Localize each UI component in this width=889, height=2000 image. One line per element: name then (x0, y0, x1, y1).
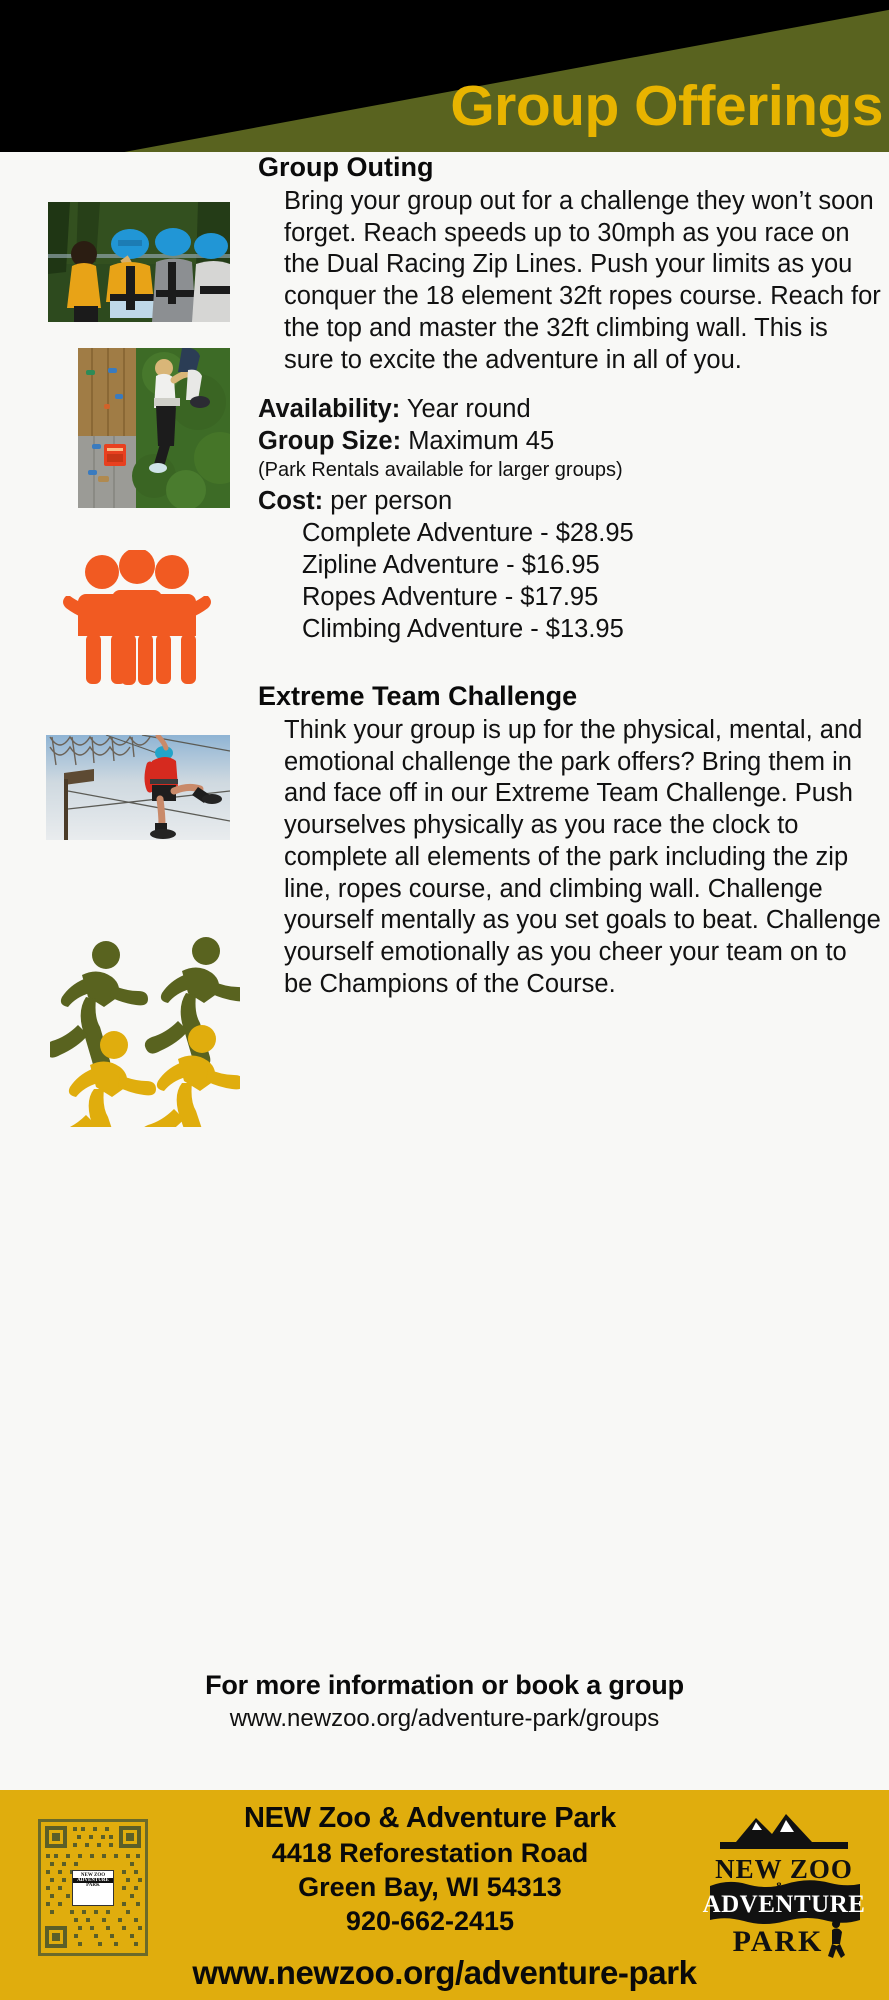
price-item: Climbing Adventure - $13.95 (258, 613, 881, 645)
cta-block: For more information or book a group www… (0, 1670, 889, 1733)
section-heading-group-outing: Group Outing (258, 152, 881, 184)
group-people-icon (58, 550, 216, 685)
page-header: Group Offerings (0, 0, 889, 152)
ropes-course-photo (46, 735, 230, 840)
detail-cost-label: Cost: (258, 487, 323, 515)
qr-logo-line-3: PARK (73, 1883, 113, 1888)
section-body-group-outing: Bring your group out for a challenge the… (258, 186, 881, 376)
climbing-wall-photo (78, 348, 230, 508)
detail-cost: Cost: per person (258, 485, 881, 517)
price-item: Ropes Adventure - $17.95 (258, 581, 881, 613)
group-harness-photo (48, 202, 230, 322)
content-area: Group Outing Bring your group out for a … (0, 152, 889, 1797)
detail-availability-value: Year round (407, 395, 531, 423)
detail-cost-value: per person (330, 487, 452, 515)
price-item: Zipline Adventure - $16.95 (258, 549, 881, 581)
detail-availability-label: Availability: (258, 395, 400, 423)
cta-headline: For more information or book a group (0, 1670, 889, 1701)
runners-icon (50, 927, 240, 1127)
text-column: Group Outing Bring your group out for a … (258, 152, 889, 1001)
footer-phone[interactable]: 920-662-2415 (150, 1906, 710, 1937)
detail-group-size: Group Size: Maximum 45 (258, 425, 881, 457)
footer-city-state-zip: Green Bay, WI 54313 (150, 1872, 710, 1903)
qr-code[interactable]: NEW ZOO ADVENTURE PARK (38, 1819, 148, 1956)
cta-url[interactable]: www.newzoo.org/adventure-park/groups (0, 1705, 889, 1733)
price-item: Complete Adventure - $28.95 (258, 517, 881, 549)
footer-address: 4418 Reforestation Road (150, 1838, 710, 1869)
page-title: Group Offerings (450, 78, 883, 135)
detail-availability: Availability: Year round (258, 393, 881, 425)
qr-center-logo: NEW ZOO ADVENTURE PARK (72, 1870, 114, 1906)
section-body-extreme-team-challenge: Think your group is up for the physical,… (258, 715, 881, 1001)
detail-group-size-value: Maximum 45 (408, 427, 554, 455)
section-heading-extreme-team-challenge: Extreme Team Challenge (258, 681, 881, 713)
qr-logo-line-2: ADVENTURE (73, 1878, 113, 1883)
park-logo: NEW ZOO & ADVENTURE PARK (702, 1812, 867, 1962)
footer-park-name: NEW Zoo & Adventure Park (150, 1802, 710, 1835)
detail-group-size-label: Group Size: (258, 427, 401, 455)
svg-text:PARK: PARK (733, 1925, 824, 1958)
group-size-note: (Park Rentals available for larger group… (258, 458, 881, 483)
footer-contact-band: NEW ZOO ADVENTURE PARK NEW Zoo & Adventu… (0, 1790, 889, 2000)
footer-contact-info: NEW Zoo & Adventure Park 4418 Reforestat… (150, 1802, 710, 1937)
